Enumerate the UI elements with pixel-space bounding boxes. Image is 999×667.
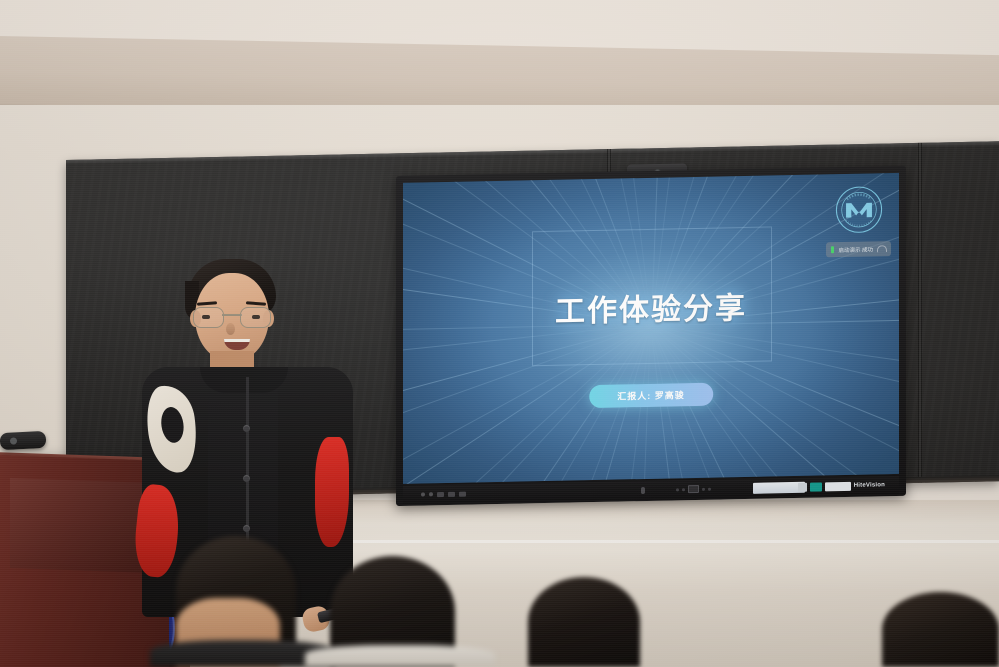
interactive-display[interactable]: 启动演示 成功 工作体验分享 汇报人: 罗高骏 bbox=[396, 166, 906, 506]
display-brand: HiteVision bbox=[798, 481, 885, 492]
bezel-dot-icon bbox=[421, 492, 425, 496]
ir-dot-icon bbox=[676, 488, 679, 491]
podium-microphone-icon bbox=[0, 431, 46, 450]
brand-mark-icon bbox=[825, 481, 851, 491]
glasses-bridge bbox=[222, 314, 242, 316]
presenter-badge: 汇报人: 罗高骏 bbox=[589, 383, 713, 408]
bezel-ir-sensor-row bbox=[676, 485, 711, 494]
bezel-square-icon bbox=[448, 491, 455, 496]
ir-dot-icon bbox=[708, 487, 711, 490]
blackboard-seam-right bbox=[918, 143, 922, 483]
classroom-photo: 启动演示 成功 工作体验分享 汇报人: 罗高骏 bbox=[0, 0, 999, 667]
wifi-icon bbox=[877, 245, 887, 252]
display-notification: 启动演示 成功 bbox=[826, 241, 891, 257]
glasses-lens bbox=[240, 307, 271, 328]
bezel-microphone-icon bbox=[641, 487, 645, 494]
university-logo bbox=[835, 185, 883, 234]
glasses-lens bbox=[193, 307, 224, 328]
brand-mark-icon bbox=[798, 482, 807, 491]
bezel-dot-icon bbox=[429, 492, 433, 496]
brand-mark-icon bbox=[810, 482, 822, 491]
audience-head bbox=[882, 592, 999, 667]
ir-receiver-icon bbox=[688, 485, 699, 493]
bezel-square-icon bbox=[437, 492, 444, 497]
bezel-button-cluster[interactable] bbox=[421, 491, 466, 497]
ir-dot-icon bbox=[702, 487, 705, 490]
jacket-button bbox=[243, 425, 250, 432]
display-brand-label: HiteVision bbox=[854, 482, 885, 489]
audience-shoulders bbox=[305, 645, 495, 667]
battery-icon bbox=[831, 246, 834, 253]
jacket-button bbox=[243, 525, 250, 532]
slide-screen[interactable]: 启动演示 成功 工作体验分享 汇报人: 罗高骏 bbox=[403, 173, 899, 484]
jacket-collar bbox=[200, 367, 288, 393]
notification-text: 启动演示 成功 bbox=[838, 245, 873, 254]
presenter-nose bbox=[226, 323, 235, 335]
jacket-red-panel bbox=[315, 437, 349, 547]
bezel-square-icon bbox=[459, 491, 466, 496]
jacket-button bbox=[243, 475, 250, 482]
audience-head bbox=[528, 577, 640, 667]
display-panel[interactable]: 启动演示 成功 工作体验分享 汇报人: 罗高骏 bbox=[403, 173, 899, 484]
ir-dot-icon bbox=[682, 488, 685, 491]
